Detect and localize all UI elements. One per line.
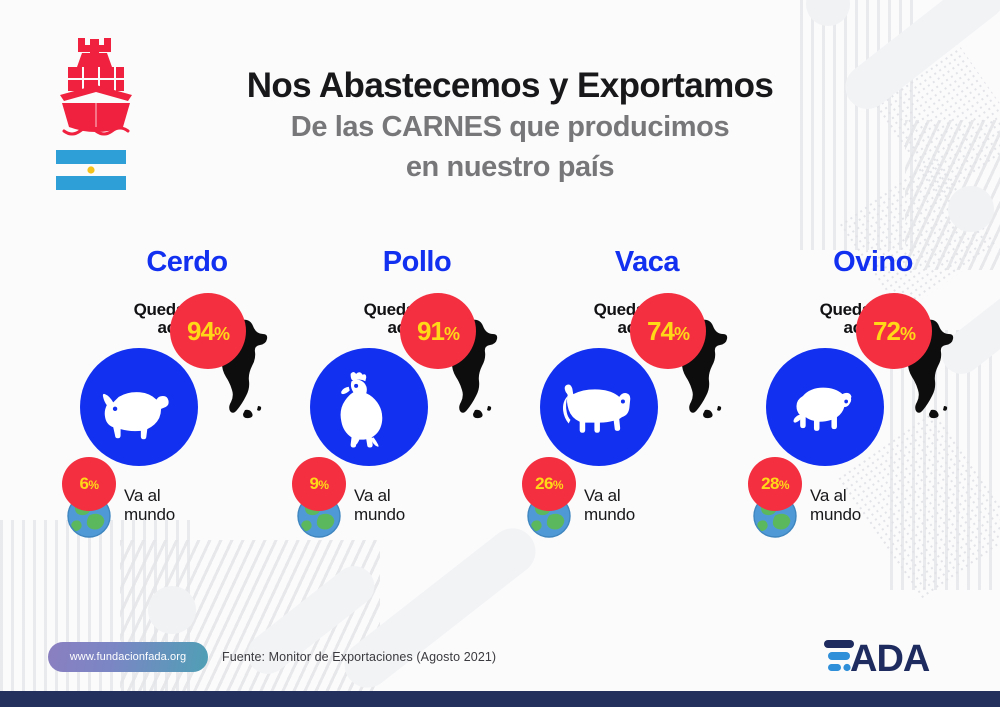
title-sub-line2: en nuestro país bbox=[150, 150, 870, 185]
meat-column-vaca: Vaca Queda a bbox=[522, 248, 772, 548]
bg-dot-texture-top-right bbox=[870, 41, 1000, 200]
export-percentage-badge-ovino: 28% bbox=[748, 457, 802, 511]
va-al-mundo-label-cerdo: Va al mundo bbox=[124, 487, 234, 524]
pct-symbol: % bbox=[88, 478, 98, 492]
domestic-pct-value-ovino: 72 bbox=[873, 316, 900, 346]
va-al-mundo-line2: mundo bbox=[354, 505, 405, 524]
va-al-mundo-line1: Va al bbox=[584, 486, 621, 505]
animal-circle-ovino bbox=[766, 348, 884, 466]
bg-circle-top-right bbox=[806, 0, 850, 26]
bottom-bar bbox=[0, 691, 1000, 707]
va-al-mundo-label-vaca: Va al mundo bbox=[584, 487, 694, 524]
sheep-icon bbox=[779, 361, 871, 453]
va-al-mundo-line1: Va al bbox=[354, 486, 391, 505]
animal-circle-pollo bbox=[310, 348, 428, 466]
domestic-percentage-badge-cerdo: 94% bbox=[170, 293, 246, 369]
export-percentage-badge-cerdo: 6% bbox=[62, 457, 116, 511]
source-text: Fuente: Monitor de Exportaciones (Agosto… bbox=[222, 650, 496, 664]
meat-column-cerdo: Cerdo Queda acá bbox=[62, 248, 312, 548]
fada-logo[interactable]: ADA bbox=[822, 634, 952, 678]
bg-circle-right bbox=[948, 186, 994, 232]
infographic-canvas: Nos Abastecemos y Exportamos De las CARN… bbox=[0, 0, 1000, 707]
animal-circle-vaca bbox=[540, 348, 658, 466]
pig-icon bbox=[93, 361, 185, 453]
title-sub-line1: De las CARNES que producimos bbox=[150, 110, 870, 145]
argentina-flag-icon bbox=[54, 148, 128, 192]
va-al-mundo-line2: mundo bbox=[584, 505, 635, 524]
column-title-vaca: Vaca bbox=[522, 248, 772, 277]
meat-column-pollo: Pollo bbox=[292, 248, 542, 548]
va-al-mundo-label-pollo: Va al mundo bbox=[354, 487, 464, 524]
website-url-pill[interactable]: www.fundacionfada.org bbox=[48, 642, 208, 672]
column-title-ovino: Ovino bbox=[748, 248, 998, 277]
pct-symbol: % bbox=[318, 478, 328, 492]
domestic-pct-value-vaca: 74 bbox=[647, 316, 674, 346]
va-al-mundo-line2: mundo bbox=[124, 505, 175, 524]
pct-symbol: % bbox=[674, 324, 689, 344]
export-percentage-badge-vaca: 26% bbox=[522, 457, 576, 511]
column-title-cerdo: Cerdo bbox=[62, 248, 312, 277]
export-percentage-badge-pollo: 9% bbox=[292, 457, 346, 511]
va-al-mundo-line2: mundo bbox=[810, 505, 861, 524]
fada-logo-text: ADA bbox=[850, 638, 930, 678]
page-title: Nos Abastecemos y Exportamos De las CARN… bbox=[150, 68, 870, 186]
bg-vertical-stripes-left bbox=[0, 520, 190, 707]
website-url-text: www.fundacionfada.org bbox=[70, 651, 186, 663]
bg-diagonal-stripes-bottom-left bbox=[120, 540, 380, 707]
domestic-percentage-badge-vaca: 74% bbox=[630, 293, 706, 369]
pct-symbol: % bbox=[553, 478, 563, 492]
pct-symbol: % bbox=[900, 324, 915, 344]
cow-icon bbox=[553, 361, 645, 453]
domestic-percentage-badge-ovino: 72% bbox=[856, 293, 932, 369]
pct-symbol: % bbox=[444, 324, 459, 344]
export-pct-value-ovino: 28 bbox=[761, 474, 779, 493]
domestic-pct-value-pollo: 91 bbox=[417, 316, 444, 346]
domestic-pct-value-cerdo: 94 bbox=[187, 316, 214, 346]
title-main: Nos Abastecemos y Exportamos bbox=[150, 68, 870, 105]
domestic-percentage-badge-pollo: 91% bbox=[400, 293, 476, 369]
cargo-ship-icon bbox=[52, 33, 140, 141]
export-pct-value-vaca: 26 bbox=[535, 474, 553, 493]
column-title-pollo: Pollo bbox=[292, 248, 542, 277]
chicken-icon bbox=[323, 361, 415, 453]
va-al-mundo-line1: Va al bbox=[124, 486, 161, 505]
va-al-mundo-label-ovino: Va al mundo bbox=[810, 487, 920, 524]
pct-symbol: % bbox=[214, 324, 229, 344]
bg-circle-bottom-left bbox=[148, 586, 196, 634]
animal-circle-cerdo bbox=[80, 348, 198, 466]
meat-column-ovino: Ovino Q bbox=[748, 248, 998, 548]
va-al-mundo-line1: Va al bbox=[810, 486, 847, 505]
pct-symbol: % bbox=[779, 478, 789, 492]
